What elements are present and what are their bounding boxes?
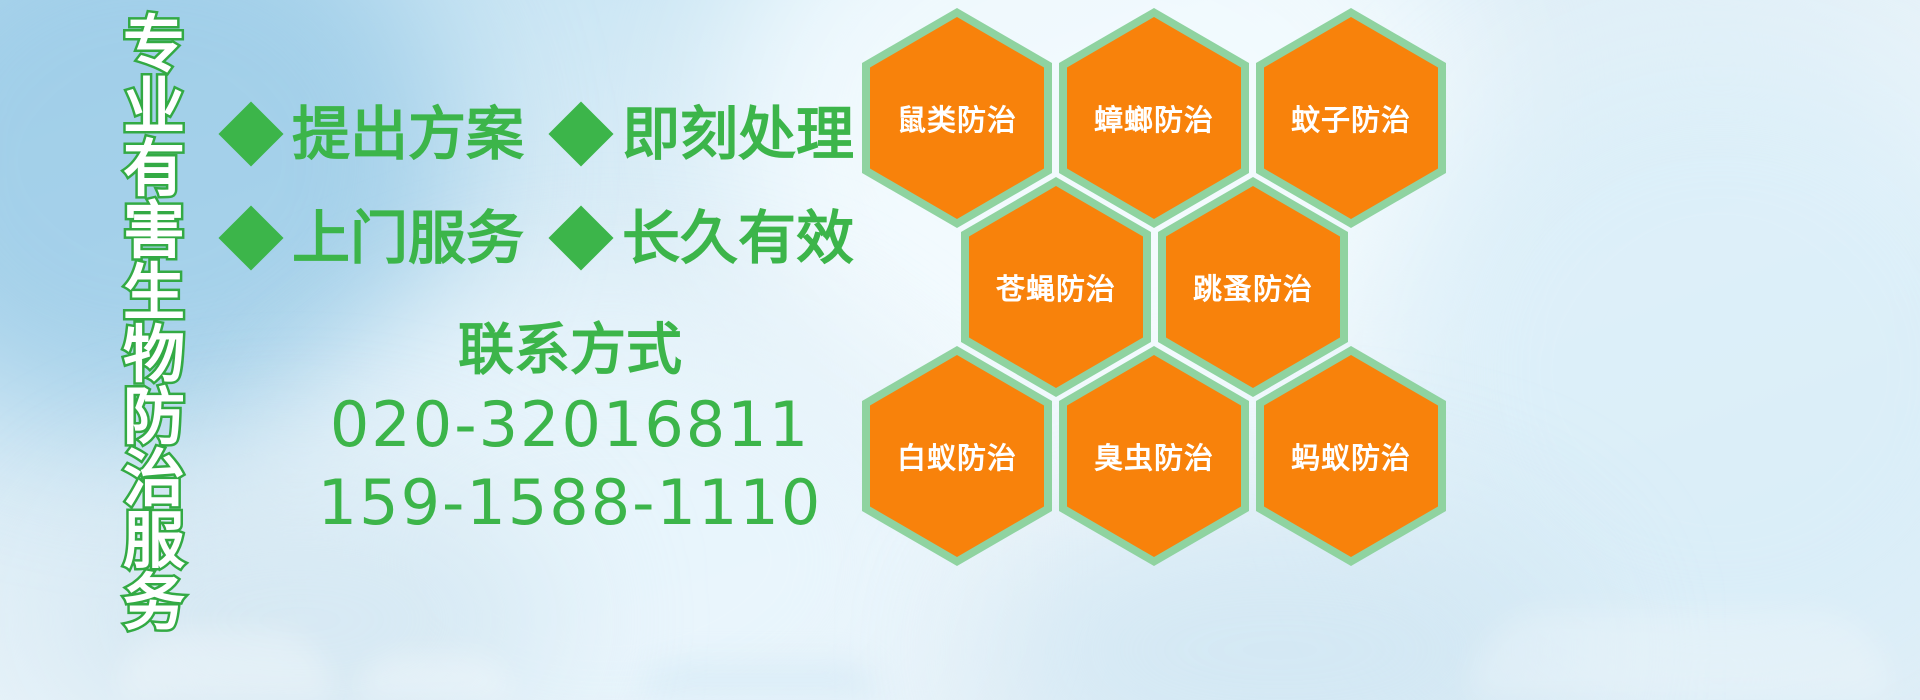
vertical-headline-char: 防 (123, 386, 185, 448)
feature-item-immediate-action: 即刻处理 (558, 104, 854, 164)
feature-list: 提出方案 即刻处理 上门服务 长久有效 (228, 82, 868, 290)
background-silhouette (640, 660, 880, 700)
background-silhouette (360, 654, 510, 700)
service-hex-flea[interactable]: 跳蚤防治 (1158, 177, 1348, 397)
feature-label: 上门服务 (292, 208, 524, 268)
background-silhouette (120, 630, 330, 700)
service-hex-mosquito[interactable]: 蚊子防治 (1256, 8, 1446, 228)
feature-label: 提出方案 (292, 104, 524, 164)
feature-item-onsite-service: 上门服务 (228, 208, 524, 268)
service-hex-ant[interactable]: 蚂蚁防治 (1256, 346, 1446, 566)
service-hex-inner: 臭虫防治 (1067, 355, 1241, 557)
vertical-headline-char: 务 (123, 572, 185, 634)
contact-phone-landline[interactable]: 020-32016811 (300, 386, 840, 464)
service-hex-fly[interactable]: 苍蝇防治 (961, 177, 1151, 397)
vertical-headline-char: 业 (123, 76, 185, 138)
vertical-headline: 专 业 有 害 生 物 防 治 服 务 (108, 14, 200, 574)
service-hex-inner: 跳蚤防治 (1166, 186, 1340, 388)
vertical-headline-char: 害 (123, 200, 185, 262)
vertical-headline-char: 生 (123, 262, 185, 324)
feature-row: 提出方案 即刻处理 (228, 82, 868, 186)
vertical-headline-char: 有 (123, 138, 185, 200)
diamond-icon (218, 101, 283, 166)
diamond-icon (548, 205, 613, 270)
service-hex-label: 鼠类防治 (897, 97, 1017, 139)
service-hex-label: 跳蚤防治 (1193, 266, 1313, 308)
service-hex-label: 蚊子防治 (1291, 97, 1411, 139)
contact-block: 联系方式 020-32016811 159-1588-1110 (300, 316, 840, 542)
service-hex-label: 蟑螂防治 (1094, 97, 1214, 139)
service-hex-inner: 蚂蚁防治 (1264, 355, 1438, 557)
background-blob (1380, 40, 1920, 700)
service-hex-termite[interactable]: 白蚁防治 (862, 346, 1052, 566)
service-hex-inner: 鼠类防治 (870, 17, 1044, 219)
vertical-headline-char: 物 (123, 324, 185, 386)
feature-item-propose-plan: 提出方案 (228, 104, 524, 164)
service-hex-inner: 苍蝇防治 (969, 186, 1143, 388)
background-silhouette (1470, 610, 1890, 700)
service-hex-label: 苍蝇防治 (996, 266, 1116, 308)
service-hex-inner: 白蚁防治 (870, 355, 1044, 557)
service-hex-label: 臭虫防治 (1094, 435, 1214, 477)
service-hex-label: 白蚁防治 (897, 435, 1017, 477)
service-hex-inner: 蟑螂防治 (1067, 17, 1241, 219)
service-hex-label: 蚂蚁防治 (1291, 435, 1411, 477)
contact-heading: 联系方式 (300, 316, 840, 386)
feature-label: 长久有效 (622, 208, 854, 268)
feature-row: 上门服务 长久有效 (228, 186, 868, 290)
diamond-icon (548, 101, 613, 166)
vertical-headline-char: 治 (123, 448, 185, 510)
service-hex-bedbug[interactable]: 臭虫防治 (1059, 346, 1249, 566)
feature-item-long-lasting: 长久有效 (558, 208, 854, 268)
service-hex-inner: 蚊子防治 (1264, 17, 1438, 219)
pest-control-banner: 专 业 有 害 生 物 防 治 服 务 提出方案 即刻处理 上门服务 (0, 0, 1920, 700)
vertical-headline-char: 服 (123, 510, 185, 572)
contact-phone-mobile[interactable]: 159-1588-1110 (300, 464, 840, 542)
feature-label: 即刻处理 (622, 104, 854, 164)
service-hexagon-grid: 鼠类防治 蟑螂防治 蚊子防治 苍蝇防治 跳蚤防治 白蚁防治 (862, 0, 1452, 560)
service-hex-cockroach[interactable]: 蟑螂防治 (1059, 8, 1249, 228)
vertical-headline-char: 专 (123, 14, 185, 76)
service-hex-rodent[interactable]: 鼠类防治 (862, 8, 1052, 228)
diamond-icon (218, 205, 283, 270)
